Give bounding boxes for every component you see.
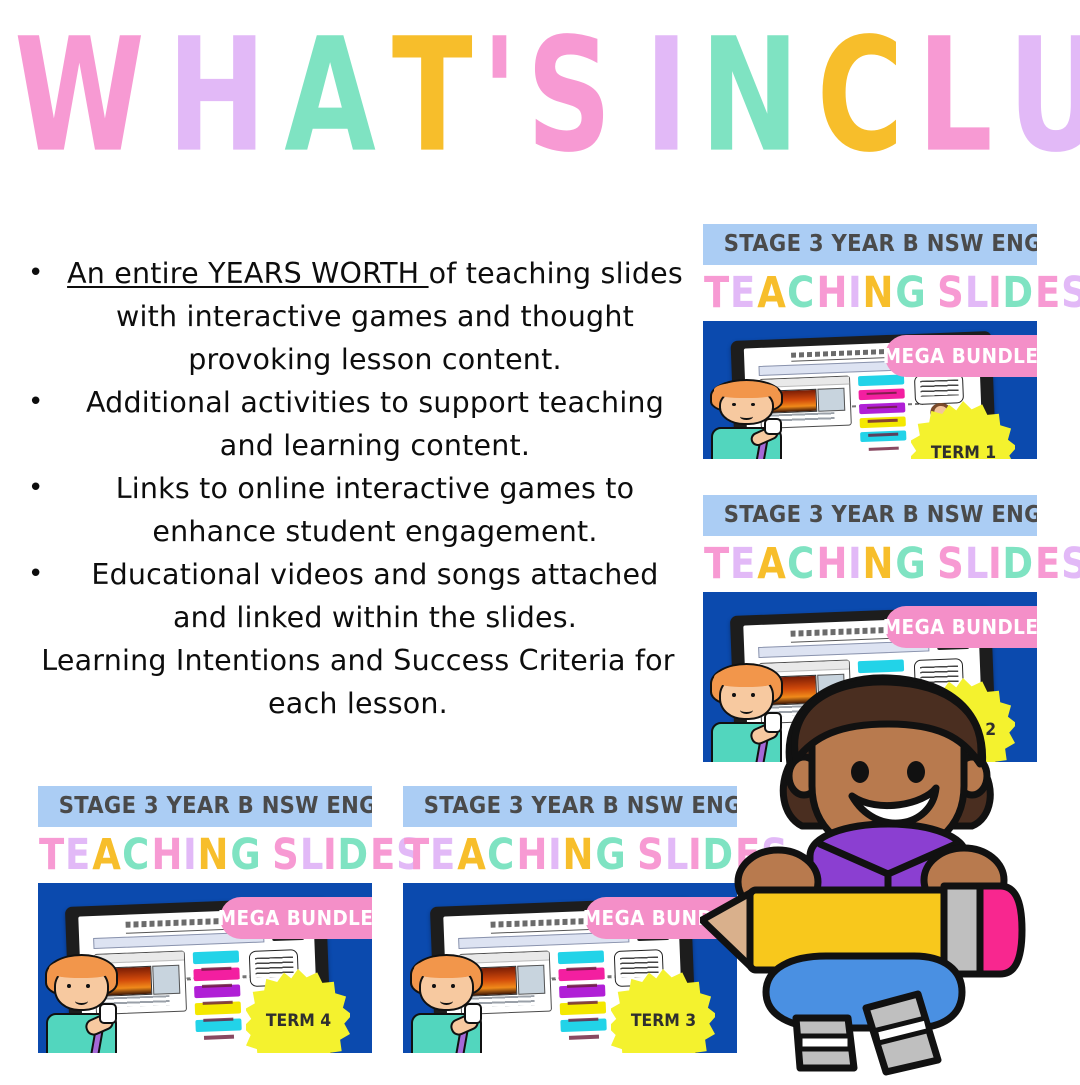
feature-item: •Additional activities to support teachi… bbox=[28, 381, 688, 467]
card3-slides-letter-8 bbox=[625, 834, 637, 877]
card-teaching-slides-title: TEACHING SLIDES bbox=[38, 827, 372, 883]
card1-slides-letter-6: N bbox=[862, 543, 892, 586]
preview-answer-button bbox=[858, 389, 905, 401]
preview-answer-button bbox=[557, 950, 604, 964]
product-card-term-3[interactable]: STAGE 3 YEAR B NSW ENGLISHTEACHING SLIDE… bbox=[403, 786, 737, 1053]
card2-slides-letter-9: S bbox=[272, 834, 298, 877]
card1-slides-letter-10: L bbox=[965, 543, 988, 586]
term-badge-label: TERM 4 bbox=[265, 1011, 330, 1031]
bullet-marker-icon: • bbox=[28, 381, 62, 424]
feature-text: Links to online interactive games to enh… bbox=[62, 467, 688, 553]
features-list: •An entire YEARS WORTH of teaching slide… bbox=[28, 252, 688, 725]
feature-text: Additional activities to support teachin… bbox=[62, 381, 688, 467]
card1-slides-letter-3: C bbox=[787, 543, 813, 586]
preview-answer-buttons bbox=[557, 950, 607, 1032]
card3-slides-letter-1: E bbox=[430, 834, 454, 877]
card2-slides-letter-1: E bbox=[65, 834, 89, 877]
page-title: WHAT'S INCLUDED bbox=[0, 26, 1080, 174]
card2-slides-letter-8 bbox=[260, 834, 272, 877]
card-teaching-slides-title: TEACHING SLIDES bbox=[703, 265, 1037, 321]
card1-slides-letter-11: I bbox=[988, 543, 1001, 586]
card2-slides-letter-11: I bbox=[323, 834, 336, 877]
card3-slides-letter-7: G bbox=[595, 834, 624, 877]
card0-slides-letter-14: S bbox=[1061, 272, 1080, 315]
card2-slides-letter-12: D bbox=[338, 834, 368, 877]
feature-text: Educational videos and songs attached an… bbox=[62, 553, 688, 639]
mega-bundle-badge: MEGA BUNDLE bbox=[885, 606, 1037, 648]
card2-slides-letter-5: I bbox=[183, 834, 196, 877]
card-band-text: STAGE 3 YEAR B NSW ENGLISH bbox=[424, 794, 737, 818]
feature-text: An entire YEARS WORTH of teaching slides… bbox=[62, 252, 688, 381]
preview-kid-clipart bbox=[406, 954, 486, 1053]
feature-item: •Educational videos and songs attached a… bbox=[28, 553, 688, 639]
card2-slides-letter-3: C bbox=[122, 834, 148, 877]
mascot-eye-left bbox=[851, 761, 869, 783]
card3-slides-letter-4: H bbox=[516, 834, 546, 877]
title-letter-10: L bbox=[917, 17, 991, 174]
preview-speech-bubble bbox=[914, 374, 965, 405]
card0-slides-letter-11: I bbox=[988, 272, 1001, 315]
card-preview-panel: MEGA BUNDLETERM 4 bbox=[38, 883, 372, 1053]
title-letter-8: N bbox=[700, 17, 798, 174]
card3-slides-letter-3: C bbox=[487, 834, 513, 877]
card1-slides-letter-13: E bbox=[1035, 543, 1059, 586]
preview-answer-buttons bbox=[192, 950, 242, 1032]
card-band-label: STAGE 3 YEAR B NSW ENGLISH bbox=[703, 224, 1037, 265]
card0-slides-letter-2: A bbox=[757, 272, 785, 315]
card1-slides-letter-4: H bbox=[816, 543, 846, 586]
preview-answer-button bbox=[858, 375, 905, 387]
preview-answer-button bbox=[859, 416, 906, 428]
preview-answer-button bbox=[860, 430, 907, 442]
card2-slides-letter-2: A bbox=[92, 834, 120, 877]
card1-slides-letter-5: I bbox=[848, 543, 861, 586]
title-letter-3: T bbox=[392, 17, 471, 174]
preview-answer-buttons bbox=[858, 375, 907, 442]
card-preview-panel: MEGA BUNDLETERM 3 bbox=[403, 883, 737, 1053]
mega-bundle-label: MEGA BUNDLE bbox=[883, 615, 1037, 639]
term-badge-label: TERM 1 bbox=[930, 443, 995, 459]
card-teaching-slides-title: TEACHING SLIDES bbox=[703, 536, 1037, 592]
title-letter-4: ' bbox=[481, 17, 516, 174]
title-letter-5: S bbox=[526, 17, 610, 174]
card0-slides-letter-13: E bbox=[1035, 272, 1059, 315]
title-letter-2: A bbox=[284, 17, 374, 174]
mascot-illustration bbox=[700, 668, 1080, 1080]
card1-slides-letter-9: S bbox=[937, 543, 963, 586]
card0-slides-letter-6: N bbox=[862, 272, 892, 315]
card-band-label: STAGE 3 YEAR B NSW ENGLISH bbox=[38, 786, 372, 827]
card-preview-panel: MEGA BUNDLETERM 1 bbox=[703, 321, 1037, 459]
card-teaching-slides-title: TEACHING SLIDES bbox=[403, 827, 737, 883]
card-band-text: STAGE 3 YEAR B NSW ENGLISH bbox=[724, 232, 1037, 256]
card2-slides-letter-4: H bbox=[151, 834, 181, 877]
card2-slides-letter-0: T bbox=[39, 834, 63, 877]
term-badge-label: TERM 3 bbox=[630, 1011, 695, 1031]
bullet-marker-icon: • bbox=[28, 252, 62, 295]
card2-slides-letter-13: E bbox=[370, 834, 394, 877]
card-band-label: STAGE 3 YEAR B NSW ENGLISH bbox=[703, 495, 1037, 536]
title-letter-1: H bbox=[167, 17, 265, 174]
preview-answer-button bbox=[859, 403, 906, 415]
mega-bundle-label: MEGA BUNDLE bbox=[218, 906, 372, 930]
kid-with-pencil-mascot bbox=[700, 668, 1080, 1080]
card3-slides-letter-10: L bbox=[665, 834, 688, 877]
card0-slides-letter-9: S bbox=[937, 272, 963, 315]
feature-item: Learning Intentions and Success Criteria… bbox=[28, 639, 688, 725]
card1-slides-letter-0: T bbox=[704, 543, 728, 586]
feature-text: Learning Intentions and Success Criteria… bbox=[28, 639, 688, 725]
card0-slides-letter-10: L bbox=[965, 272, 988, 315]
title-letter-0: W bbox=[14, 17, 143, 174]
card-band-label: STAGE 3 YEAR B NSW ENGLISH bbox=[403, 786, 737, 827]
title-letter-7: I bbox=[644, 17, 686, 174]
card0-slides-letter-1: E bbox=[730, 272, 754, 315]
feature-item: •An entire YEARS WORTH of teaching slide… bbox=[28, 252, 688, 381]
card2-slides-letter-6: N bbox=[197, 834, 227, 877]
preview-answer-button bbox=[192, 950, 239, 964]
feature-item: •Links to online interactive games to en… bbox=[28, 467, 688, 553]
card3-slides-letter-0: T bbox=[404, 834, 428, 877]
preview-kid-clipart bbox=[41, 954, 121, 1053]
bullet-marker-icon: • bbox=[28, 553, 62, 596]
feature-text-underlined: An entire YEARS WORTH bbox=[67, 257, 429, 290]
card2-slides-letter-10: L bbox=[300, 834, 323, 877]
card1-slides-letter-1: E bbox=[730, 543, 754, 586]
card3-slides-letter-5: I bbox=[548, 834, 561, 877]
product-card-term-4[interactable]: STAGE 3 YEAR B NSW ENGLISHTEACHING SLIDE… bbox=[38, 786, 372, 1053]
card-band-text: STAGE 3 YEAR B NSW ENGLISH bbox=[724, 503, 1037, 527]
card1-slides-letter-14: S bbox=[1061, 543, 1080, 586]
card3-slides-letter-6: N bbox=[562, 834, 592, 877]
card1-slides-letter-8 bbox=[925, 543, 937, 586]
card0-slides-letter-3: C bbox=[787, 272, 813, 315]
card0-slides-letter-12: D bbox=[1003, 272, 1033, 315]
card1-slides-letter-12: D bbox=[1003, 543, 1033, 586]
product-card-term-1[interactable]: STAGE 3 YEAR B NSW ENGLISHTEACHING SLIDE… bbox=[703, 224, 1037, 459]
card-band-text: STAGE 3 YEAR B NSW ENGLISH bbox=[59, 794, 372, 818]
title-letter-6 bbox=[617, 26, 643, 174]
card3-slides-letter-2: A bbox=[457, 834, 485, 877]
mega-bundle-badge: MEGA BUNDLE bbox=[885, 335, 1037, 377]
mega-bundle-label: MEGA BUNDLE bbox=[883, 344, 1037, 368]
card0-slides-letter-5: I bbox=[848, 272, 861, 315]
mega-bundle-badge: MEGA BUNDLE bbox=[220, 897, 372, 939]
card0-slides-letter-0: T bbox=[704, 272, 728, 315]
card0-slides-letter-8 bbox=[925, 272, 937, 315]
preview-kid-clipart bbox=[706, 379, 786, 459]
card0-slides-letter-4: H bbox=[816, 272, 846, 315]
mascot-eye-right bbox=[907, 761, 925, 783]
card1-slides-letter-2: A bbox=[757, 543, 785, 586]
title-letter-9: C bbox=[816, 17, 901, 174]
card2-slides-letter-7: G bbox=[230, 834, 259, 877]
bullet-marker-icon: • bbox=[28, 467, 62, 510]
card0-slides-letter-7: G bbox=[895, 272, 924, 315]
card1-slides-letter-7: G bbox=[895, 543, 924, 586]
title-letter-11: U bbox=[1008, 17, 1080, 174]
card3-slides-letter-9: S bbox=[637, 834, 663, 877]
